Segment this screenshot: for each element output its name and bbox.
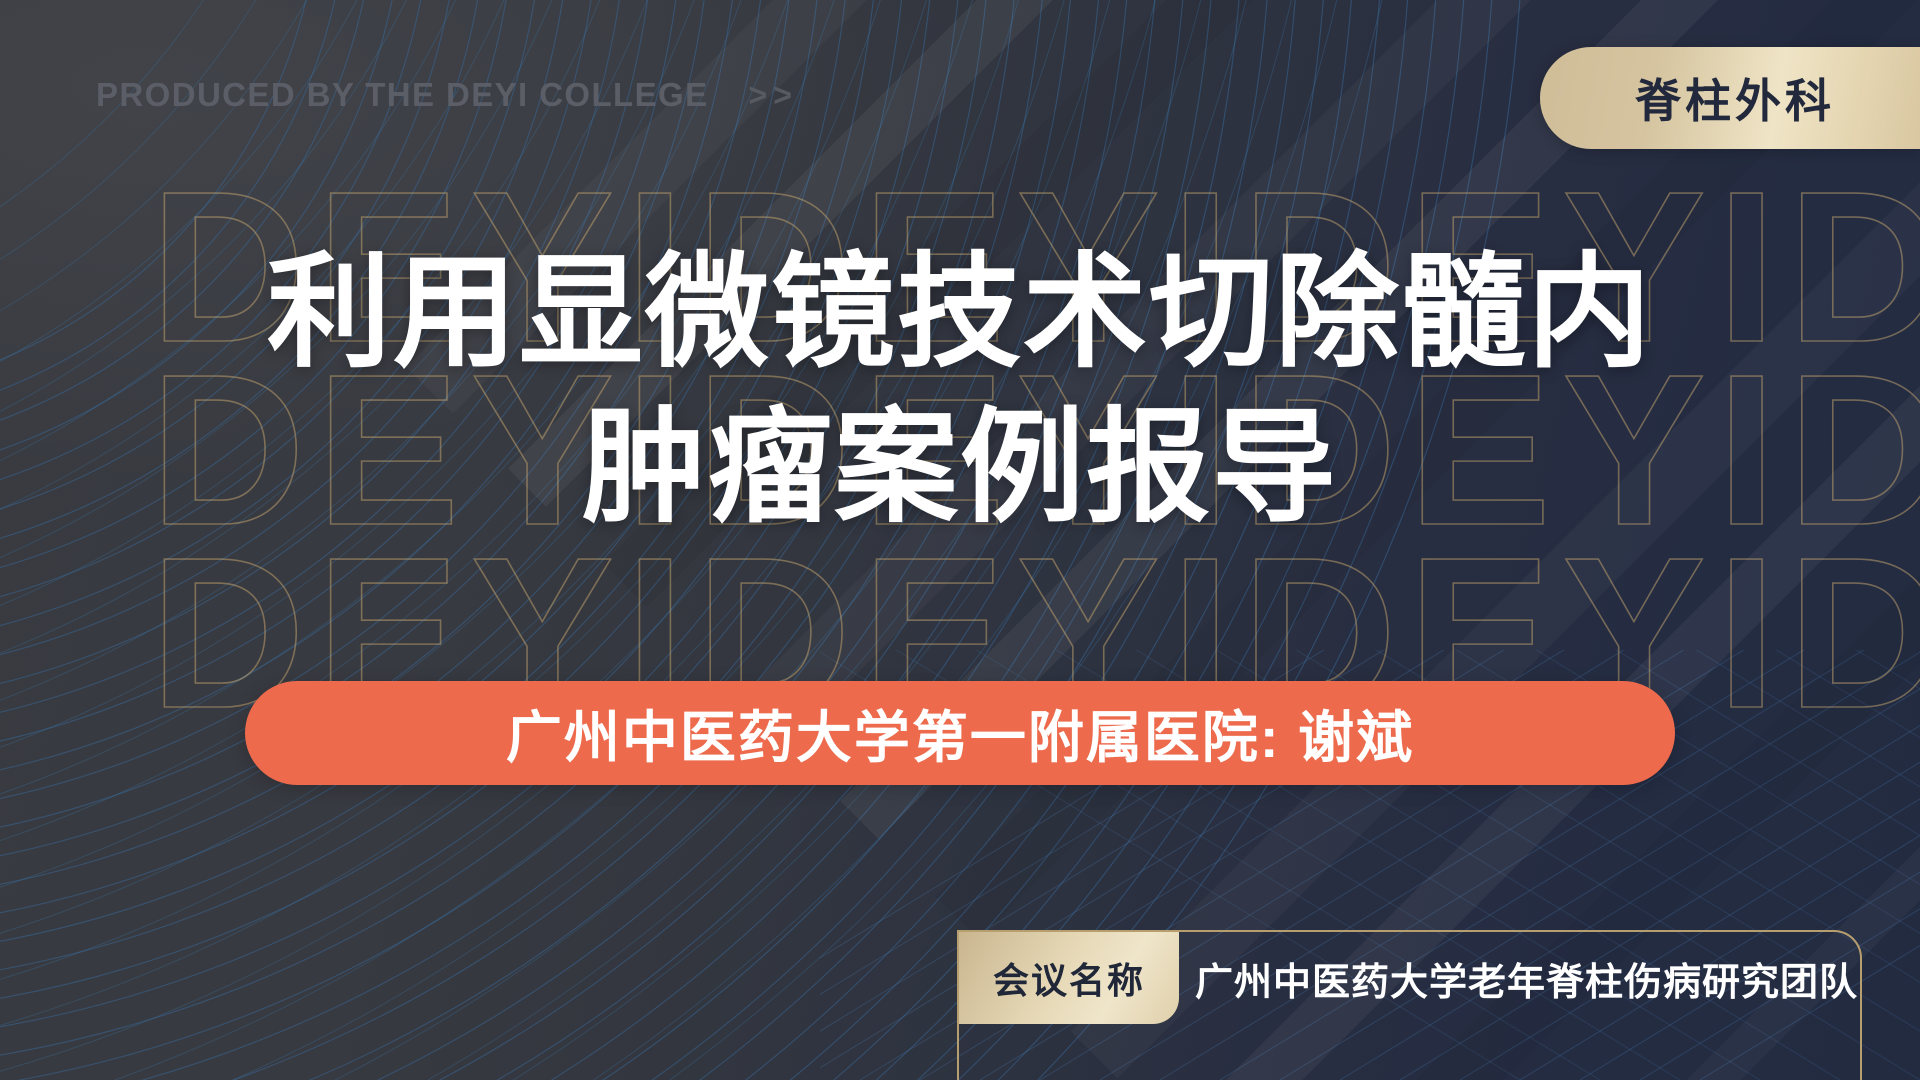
department-badge: 脊柱外科	[1540, 47, 1920, 149]
meeting-bar: 会议名称 广州中医药大学老年脊柱伤病研究团队	[957, 930, 1862, 1080]
meeting-label-text: 会议名称	[993, 952, 1145, 1004]
presenter-pill-label: 广州中医药大学第一附属医院: 谢斌	[506, 693, 1414, 774]
meeting-name: 广州中医药大学老年脊柱伤病研究团队	[1195, 932, 1858, 1024]
title-line-1: 利用显微镜技术切除髓内	[0, 236, 1920, 391]
page-title: 利用显微镜技术切除髓内 肿瘤案例报导	[0, 236, 1920, 546]
meeting-name-text: 广州中医药大学老年脊柱伤病研究团队	[1195, 951, 1858, 1006]
double-chevron-right-icon: >>	[749, 77, 798, 114]
meeting-label-badge: 会议名称	[959, 932, 1179, 1024]
title-slide: DEYIDEYIDEYIDEYI DEYIDEYIDEYIDEYI DEYIDE…	[0, 0, 1920, 1080]
header: PRODUCED BY THE DEYI COLLEGE >>	[96, 76, 798, 114]
department-badge-label: 脊柱外科	[1635, 65, 1835, 131]
title-line-2: 肿瘤案例报导	[0, 391, 1920, 546]
presenter-pill: 广州中医药大学第一附属医院: 谢斌	[245, 681, 1675, 785]
produced-by-label: PRODUCED BY THE DEYI COLLEGE	[96, 76, 709, 114]
